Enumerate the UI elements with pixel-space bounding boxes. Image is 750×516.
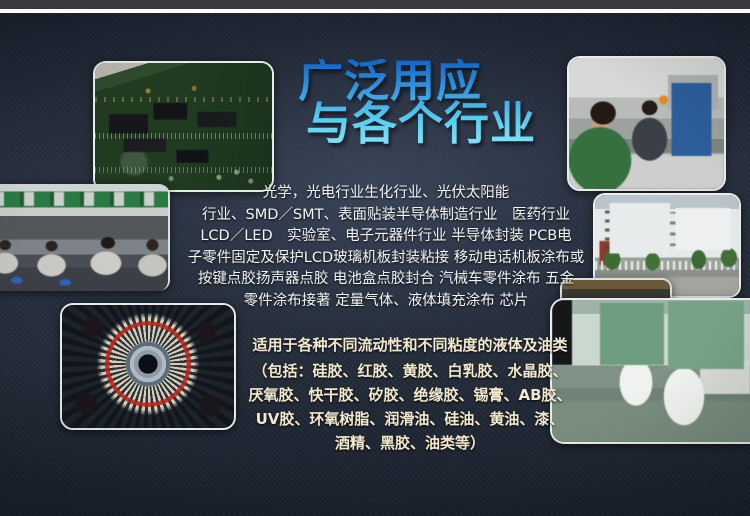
fluid-types-paragraph: 适用于各种不同流动性和不同粘度的液体及油类 （包括：硅胶、红胶、黄胶、白乳胶、水… (232, 333, 588, 455)
top-chrome-bar (0, 0, 750, 9)
fluid-types-line-4: 酒精、黑胶、油类等） (232, 431, 588, 455)
top-white-divider (0, 9, 750, 13)
headline: 广泛用应 与各个行业 (298, 59, 558, 145)
fluid-types-line-3: UV胶、环氧树脂、润滑油、硅油、黄油、漆、 (232, 407, 588, 431)
application-line-6: 零件涂布接著 定量气体、液体填充涂布 芯片 (182, 291, 590, 313)
application-fields-paragraph: 光学，光电行业生化行业、光伏太阳能 行业、SMD／SMT、表面贴装半导体制造行业… (182, 183, 590, 312)
photo-technicians-workbench (567, 56, 726, 191)
application-line-2: 行业、SMD／SMT、表面贴装半导体制造行业 医药行业 (182, 205, 590, 227)
application-line-5: 按键点胶扬声器点胶 电池盒点胶封合 汽械车零件涂布 五金 (182, 269, 590, 291)
fluid-types-line-2: 厌氧胶、快干胶、矽胶、绝缘胶、锡膏、AB胶、 (232, 383, 588, 407)
pcb-circuit-board-image (95, 63, 272, 190)
promo-banner: 广泛用应 与各个行业 光学，光电行业生化行业、光伏太阳能 行业、SMD／SMT、… (0, 0, 750, 516)
photo-radial-stator-pcb (60, 303, 236, 430)
radial-stator-pcb-image (62, 305, 234, 428)
application-line-4: 子零件固定及保护LCD玻璃机板封装粘接 移动电话机板涂布或 (182, 248, 590, 270)
banner-canvas: 广泛用应 与各个行业 光学，光电行业生化行业、光伏太阳能 行业、SMD／SMT、… (0, 13, 750, 516)
headline-line-2: 与各个行业 (306, 102, 558, 145)
fluid-types-line-1: （包括：硅胶、红胶、黄胶、白乳胶、水晶胶、 (232, 359, 588, 383)
fluid-types-lead: 适用于各种不同流动性和不同粘度的液体及油类 (232, 333, 588, 357)
technicians-workbench-image (569, 58, 724, 189)
application-line-1: 光学，光电行业生化行业、光伏太阳能 (182, 183, 590, 205)
photo-factory-assembly-line (0, 184, 170, 291)
factory-assembly-line-image (0, 184, 168, 291)
application-line-3: LCD／LED 实验室、电子元器件行业 半导体封装 PCB电 (182, 226, 590, 248)
photo-pcb-circuit-board (93, 61, 274, 192)
